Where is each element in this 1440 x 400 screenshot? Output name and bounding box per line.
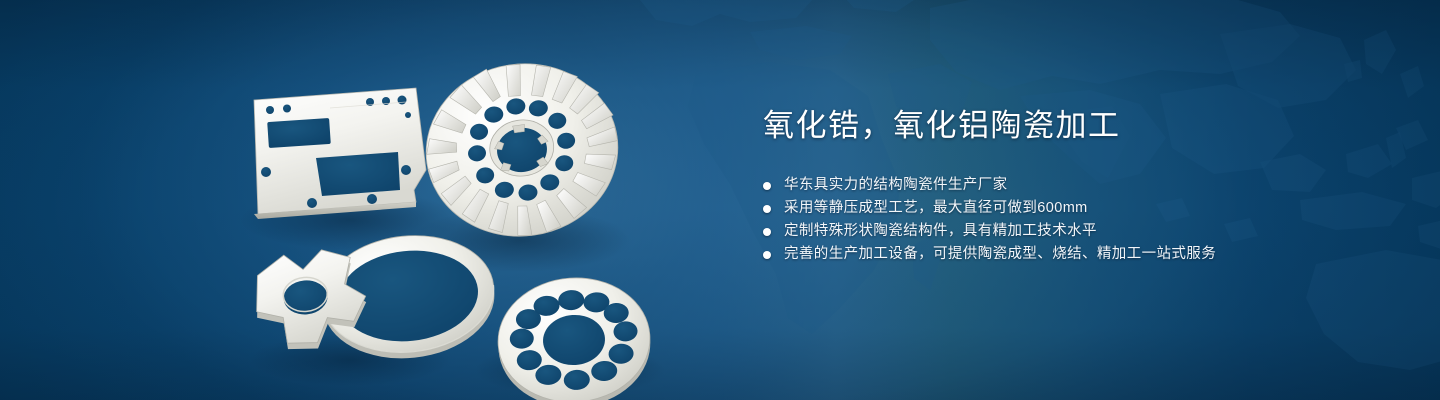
ceramic-machined-plate	[254, 88, 426, 219]
feature-text: 采用等静压成型工艺，最大直径可做到600mm	[784, 197, 1088, 220]
feature-text: 定制特殊形状陶瓷结构件，具有精加工技术水平	[784, 220, 1097, 243]
product-image-cluster	[230, 40, 710, 380]
page-title: 氧化锆，氧化铝陶瓷加工	[763, 106, 1383, 146]
ceramic-perforated-disc	[494, 273, 655, 400]
feature-list: 华东具实力的结构陶瓷件生产厂家 采用等静压成型工艺，最大直径可做到600mm 定…	[763, 174, 1383, 266]
bullet-dot-icon	[763, 205, 771, 213]
feature-text: 华东具实力的结构陶瓷件生产厂家	[784, 174, 1008, 197]
list-item: 华东具实力的结构陶瓷件生产厂家	[763, 174, 1383, 197]
banner-copy: 氧化锆，氧化铝陶瓷加工 华东具实力的结构陶瓷件生产厂家 采用等静压成型工艺，最大…	[763, 106, 1383, 266]
bullet-dot-icon	[763, 228, 771, 236]
list-item: 完善的生产加工设备，可提供陶瓷成型、烧结、精加工一站式服务	[763, 243, 1383, 266]
list-item: 定制特殊形状陶瓷结构件，具有精加工技术水平	[763, 220, 1383, 243]
bullet-dot-icon	[763, 251, 771, 259]
hero-banner: 氧化锆，氧化铝陶瓷加工 华东具实力的结构陶瓷件生产厂家 采用等静压成型工艺，最大…	[0, 0, 1440, 400]
feature-text: 完善的生产加工设备，可提供陶瓷成型、烧结、精加工一站式服务	[784, 243, 1216, 266]
list-item: 采用等静压成型工艺，最大直径可做到600mm	[763, 197, 1383, 220]
bullet-dot-icon	[763, 182, 771, 190]
